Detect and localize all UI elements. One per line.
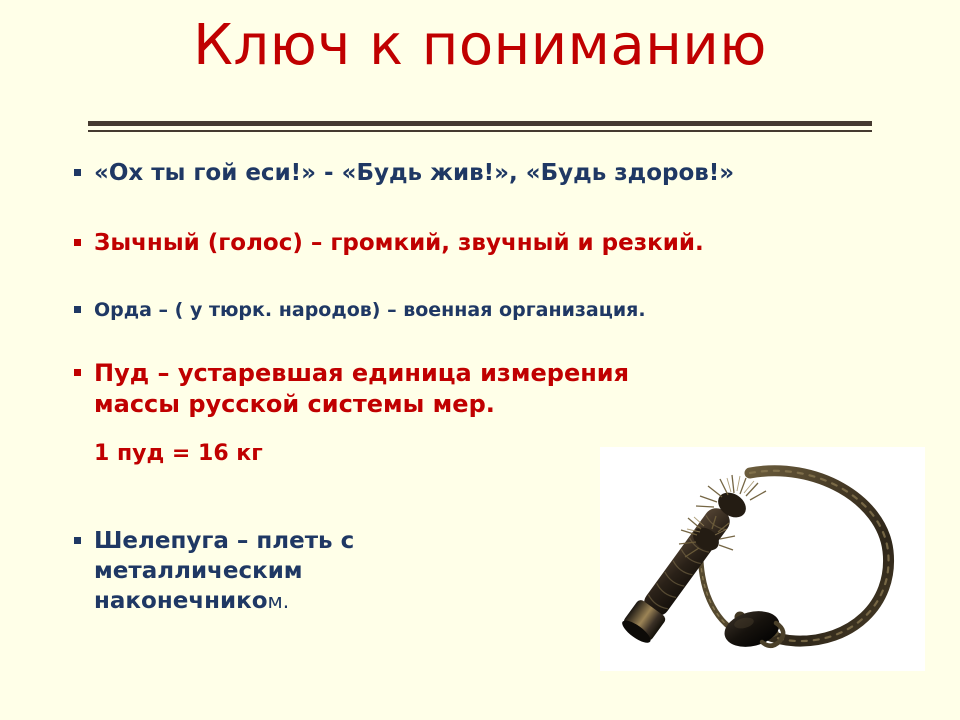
square-bullet-icon [74, 158, 94, 188]
list-item-orda: Орда – ( у тюрк. народов) – военная орга… [74, 297, 904, 323]
divider-rule-thick [88, 121, 872, 126]
whip-photograph [600, 447, 925, 671]
square-bullet-icon [74, 526, 94, 556]
list-item-label: Зычный (голос) – громкий, звучный и резк… [94, 228, 904, 258]
list-item-goy: «Ох ты гой еси!» - «Будь жив!», «Будь зд… [74, 158, 904, 188]
list-item-label: Пуд – устаревшая единица измерения массы… [94, 358, 704, 420]
whip-illustration [600, 447, 925, 671]
list-item-label: «Ох ты гой еси!» - «Будь жив!», «Будь зд… [94, 158, 904, 188]
square-bullet-icon [74, 228, 94, 258]
page-title: Ключ к пониманию [193, 14, 767, 78]
list-item-label-tail: м. [268, 589, 290, 613]
list-item-label-main: Шелепуга – плеть с металлическим наконеч… [94, 528, 354, 614]
list-item-label: Орда – ( у тюрк. народов) – военная орга… [94, 297, 904, 323]
title-block: Ключ к пониманию [0, 14, 960, 78]
square-bullet-icon [74, 297, 94, 323]
list-item-pud: Пуд – устаревшая единица измерения массы… [74, 358, 904, 420]
list-item-label: Шелепуга – плеть с металлическим наконеч… [94, 526, 494, 616]
divider-rule-thin [88, 130, 872, 132]
slide: Ключ к пониманию «Ох ты гой еси!» - «Буд… [0, 0, 960, 720]
list-item-zychny: Зычный (голос) – громкий, звучный и резк… [74, 228, 904, 258]
square-bullet-icon [74, 358, 94, 389]
